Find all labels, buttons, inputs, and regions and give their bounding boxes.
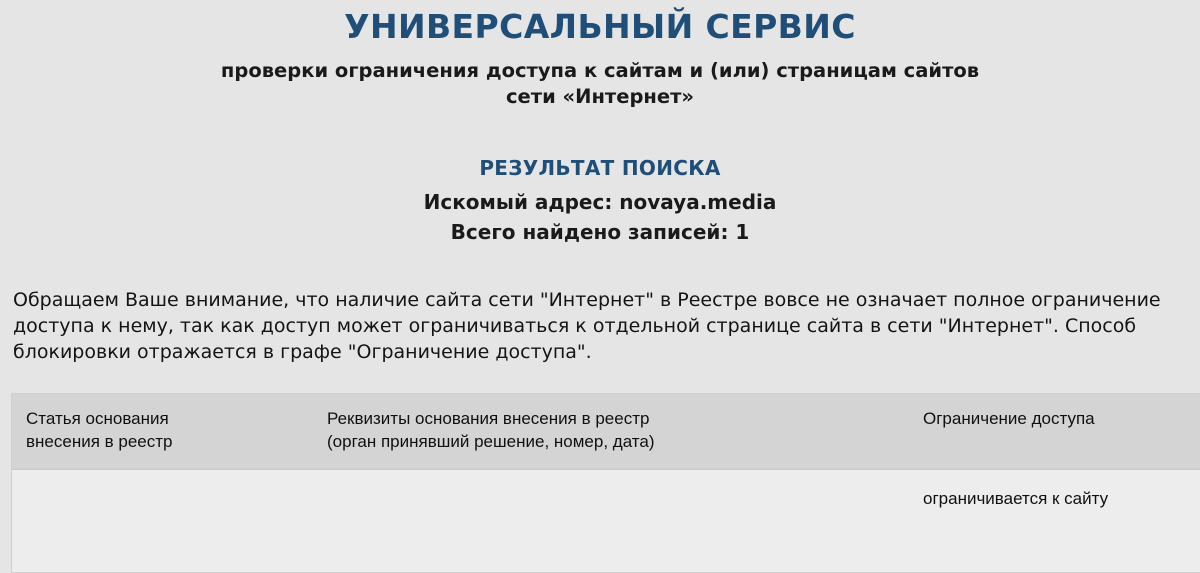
registry-table-container: Статья основания внесения в реестр Рекви… bbox=[11, 393, 1189, 573]
column-header-article-line-1: Статья основания bbox=[26, 408, 303, 430]
cell-article bbox=[12, 470, 313, 572]
page-subtitle-line-2: сети «Интернет» bbox=[0, 84, 1200, 110]
column-header-article-line-2: внесения в реестр bbox=[26, 431, 303, 453]
page-title: УНИВЕРСАЛЬНЫЙ СЕРВИС bbox=[0, 8, 1200, 46]
registry-table-body: ограничивается к сайту bbox=[12, 470, 1200, 572]
cell-details bbox=[313, 470, 909, 572]
universal-service-page: УНИВЕРСАЛЬНЫЙ СЕРВИС проверки ограничени… bbox=[0, 0, 1200, 540]
registry-table-head: Статья основания внесения в реестр Рекви… bbox=[12, 394, 1200, 470]
cell-restriction: ограничивается к сайту bbox=[909, 470, 1200, 572]
column-header-details: Реквизиты основания внесения в реестр (о… bbox=[313, 394, 909, 470]
column-header-article: Статья основания внесения в реестр bbox=[12, 394, 313, 470]
search-result-summary: РЕЗУЛЬТАТ ПОИСКА Искомый адрес: novaya.m… bbox=[0, 155, 1200, 245]
search-result-heading: РЕЗУЛЬТАТ ПОИСКА bbox=[0, 155, 1200, 181]
table-header-row: Статья основания внесения в реестр Рекви… bbox=[12, 394, 1200, 470]
column-header-details-line-1: Реквизиты основания внесения в реестр bbox=[327, 408, 899, 430]
page-header: УНИВЕРСАЛЬНЫЙ СЕРВИС проверки ограничени… bbox=[0, 0, 1200, 111]
column-header-restriction: Ограничение доступа bbox=[909, 394, 1200, 470]
table-row: ограничивается к сайту bbox=[12, 470, 1200, 572]
column-header-details-line-2: (орган принявший решение, номер, дата) bbox=[327, 431, 899, 453]
total-found-line: Всего найдено записей: 1 bbox=[0, 220, 1200, 245]
column-header-restriction-line-1: Ограничение доступа bbox=[923, 408, 1200, 430]
page-subtitle: проверки ограничения доступа к сайтам и … bbox=[0, 58, 1200, 111]
registry-table: Статья основания внесения в реестр Рекви… bbox=[11, 393, 1200, 573]
page-subtitle-line-1: проверки ограничения доступа к сайтам и … bbox=[221, 59, 979, 82]
searched-address-line: Искомый адрес: novaya.media bbox=[0, 190, 1200, 215]
registry-notice-text: Обращаем Ваше внимание, что наличие сайт… bbox=[13, 287, 1187, 366]
